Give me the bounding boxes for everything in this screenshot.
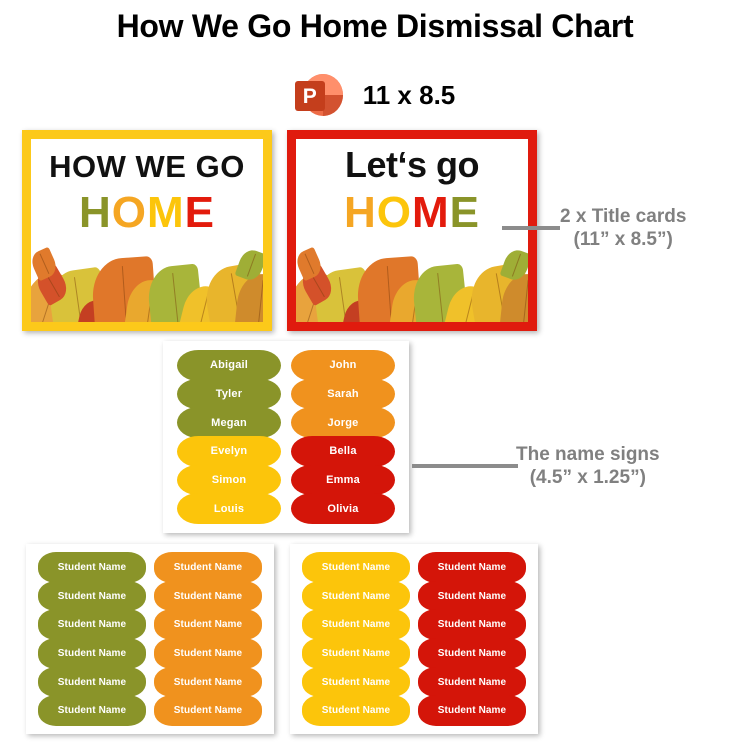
student-name-label[interactable]: Student Name <box>154 552 262 583</box>
title-letter: M <box>412 191 450 235</box>
powerpoint-icon: P <box>295 72 341 118</box>
student-name-label[interactable]: Student Name <box>154 695 262 726</box>
label-grid: Student NameStudent NameStudent NameStud… <box>38 553 262 725</box>
callout-title-cards-line1: 2 x Title cards <box>560 206 686 227</box>
autumn-leaves-decoration <box>296 244 528 322</box>
student-name-label[interactable]: Student Name <box>418 667 526 698</box>
label-sheet-left[interactable]: Student NameStudent NameStudent NameStud… <box>26 544 274 734</box>
student-name-label[interactable]: Student Name <box>302 609 410 640</box>
name-signs-grid: AbigailTylerMeganEvelynSimonLouisJohnSar… <box>177 351 395 523</box>
powerpoint-icon-letter: P <box>295 81 325 111</box>
student-name-label[interactable]: Student Name <box>38 695 146 726</box>
title-card-how-we-go-home[interactable]: HOW WE GO HOME <box>22 130 272 331</box>
name-sign[interactable]: Megan <box>177 407 281 438</box>
student-name-label[interactable]: Student Name <box>38 638 146 669</box>
name-signs-column: JohnSarahJorgeBellaEmmaOlivia <box>291 351 395 523</box>
title-card-b-line1: Let‘s go <box>296 144 528 186</box>
name-sign[interactable]: Bella <box>291 436 395 467</box>
name-sign[interactable]: John <box>291 350 395 381</box>
name-signs-sheet[interactable]: AbigailTylerMeganEvelynSimonLouisJohnSar… <box>163 341 409 533</box>
page-title: How We Go Home Dismissal Chart <box>0 8 750 45</box>
student-name-label[interactable]: Student Name <box>154 667 262 698</box>
title-letter: E <box>450 191 480 235</box>
student-name-label[interactable]: Student Name <box>302 667 410 698</box>
title-card-a-line2: HOME <box>31 191 263 235</box>
name-signs-column: AbigailTylerMeganEvelynSimonLouis <box>177 351 281 523</box>
poster-canvas: How We Go Home Dismissal Chart P 11 x 8.… <box>0 0 750 750</box>
powerpoint-format-row: P 11 x 8.5 <box>0 72 750 118</box>
title-card-a-line1: HOW WE GO <box>31 149 263 185</box>
label-sheet-right[interactable]: Student NameStudent NameStudent NameStud… <box>290 544 538 734</box>
document-dimensions: 11 x 8.5 <box>363 80 456 111</box>
name-sign[interactable]: Tyler <box>177 379 281 410</box>
student-name-label[interactable]: Student Name <box>302 581 410 612</box>
student-name-label[interactable]: Student Name <box>302 695 410 726</box>
student-name-label[interactable]: Student Name <box>418 609 526 640</box>
student-name-label[interactable]: Student Name <box>154 638 262 669</box>
label-grid: Student NameStudent NameStudent NameStud… <box>302 553 526 725</box>
name-sign[interactable]: Abigail <box>177 350 281 381</box>
callout-title-cards-line2: (11” x 8.5”) <box>560 228 686 251</box>
title-letter: O <box>112 191 147 235</box>
title-letter: H <box>79 191 112 235</box>
student-name-label[interactable]: Student Name <box>418 638 526 669</box>
name-sign[interactable]: Louis <box>177 493 281 524</box>
title-letter: M <box>147 191 185 235</box>
student-name-label[interactable]: Student Name <box>418 552 526 583</box>
name-sign[interactable]: Simon <box>177 465 281 496</box>
autumn-leaves-decoration <box>31 244 263 322</box>
name-sign[interactable]: Olivia <box>291 493 395 524</box>
name-sign[interactable]: Sarah <box>291 379 395 410</box>
student-name-label[interactable]: Student Name <box>154 581 262 612</box>
student-name-label[interactable]: Student Name <box>418 695 526 726</box>
student-name-label[interactable]: Student Name <box>38 581 146 612</box>
name-sign[interactable]: Emma <box>291 465 395 496</box>
student-name-label[interactable]: Student Name <box>38 667 146 698</box>
student-name-label[interactable]: Student Name <box>154 609 262 640</box>
label-column: Student NameStudent NameStudent NameStud… <box>154 553 262 725</box>
title-card-b-line2: HOME <box>296 191 528 235</box>
student-name-label[interactable]: Student Name <box>302 552 410 583</box>
student-name-label[interactable]: Student Name <box>38 552 146 583</box>
title-card-lets-go-home[interactable]: Let‘s go HOME <box>287 130 537 331</box>
name-sign[interactable]: Evelyn <box>177 436 281 467</box>
student-name-label[interactable]: Student Name <box>418 581 526 612</box>
callout-name-signs-line1: The name signs <box>516 444 660 465</box>
callout-title-cards: 2 x Title cards (11” x 8.5”) <box>560 205 686 251</box>
title-letter: O <box>377 191 412 235</box>
title-letter: H <box>344 191 377 235</box>
callout-name-signs-line2: (4.5” x 1.25”) <box>516 466 660 489</box>
student-name-label[interactable]: Student Name <box>38 609 146 640</box>
leader-line-name-signs <box>412 464 518 468</box>
label-column: Student NameStudent NameStudent NameStud… <box>418 553 526 725</box>
student-name-label[interactable]: Student Name <box>302 638 410 669</box>
label-column: Student NameStudent NameStudent NameStud… <box>38 553 146 725</box>
name-sign[interactable]: Jorge <box>291 407 395 438</box>
label-column: Student NameStudent NameStudent NameStud… <box>302 553 410 725</box>
callout-name-signs: The name signs (4.5” x 1.25”) <box>516 443 660 489</box>
title-letter: E <box>185 191 215 235</box>
